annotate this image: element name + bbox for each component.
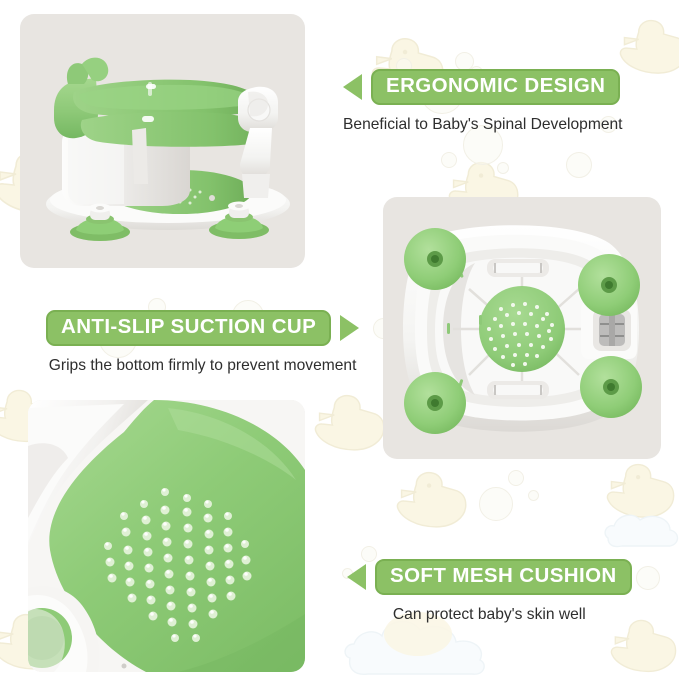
feature-subtitle-soft-mesh-cushion: Can protect baby's skin well <box>347 606 632 625</box>
bubble-icon <box>508 470 524 486</box>
top-view-panel <box>383 197 661 459</box>
callout-anti-slip-suction-cup: ANTI-SLIP SUCTION CUP Grips the bottom f… <box>46 310 359 375</box>
duck-icon <box>602 618 679 679</box>
triangle-left-icon <box>347 564 366 590</box>
feature-badge-anti-slip-suction-cup: ANTI-SLIP SUCTION CUP <box>46 310 331 346</box>
bath-seat-bottom-view-image <box>383 197 661 459</box>
callout-row: SOFT MESH CUSHION <box>347 559 632 595</box>
feature-badge-soft-mesh-cushion: SOFT MESH CUSHION <box>375 559 632 595</box>
feature-subtitle-anti-slip-suction-cup: Grips the bottom firmly to prevent movem… <box>46 357 359 376</box>
cushion-closeup-panel <box>28 400 305 672</box>
triangle-left-icon <box>343 74 362 100</box>
bubble-icon <box>566 152 592 178</box>
feature-subtitle-ergonomic-design: Beneficial to Baby's Spinal Development <box>343 116 623 135</box>
bubble-icon <box>636 566 660 590</box>
mesh-cushion-closeup-image <box>28 400 305 672</box>
product-infographic: ERGONOMIC DESIGN Beneficial to Baby's Sp… <box>0 0 679 679</box>
feature-badge-ergonomic-design: ERGONOMIC DESIGN <box>371 69 620 105</box>
bubble-icon <box>497 162 509 174</box>
duck-icon <box>306 393 390 459</box>
callout-row: ERGONOMIC DESIGN <box>343 69 623 105</box>
bubble-icon <box>528 490 539 501</box>
bath-seat-side-view-image <box>20 14 305 268</box>
bubble-icon <box>441 152 457 168</box>
callout-row: ANTI-SLIP SUCTION CUP <box>46 310 359 346</box>
bubble-icon <box>479 487 513 521</box>
water-splash-icon <box>600 498 679 558</box>
callout-ergonomic-design: ERGONOMIC DESIGN Beneficial to Baby's Sp… <box>343 69 623 134</box>
side-view-panel <box>20 14 305 268</box>
duck-icon <box>388 470 472 536</box>
callout-soft-mesh-cushion: SOFT MESH CUSHION Can protect baby's ski… <box>347 559 632 624</box>
triangle-right-icon <box>340 315 359 341</box>
duck-icon <box>598 462 679 526</box>
